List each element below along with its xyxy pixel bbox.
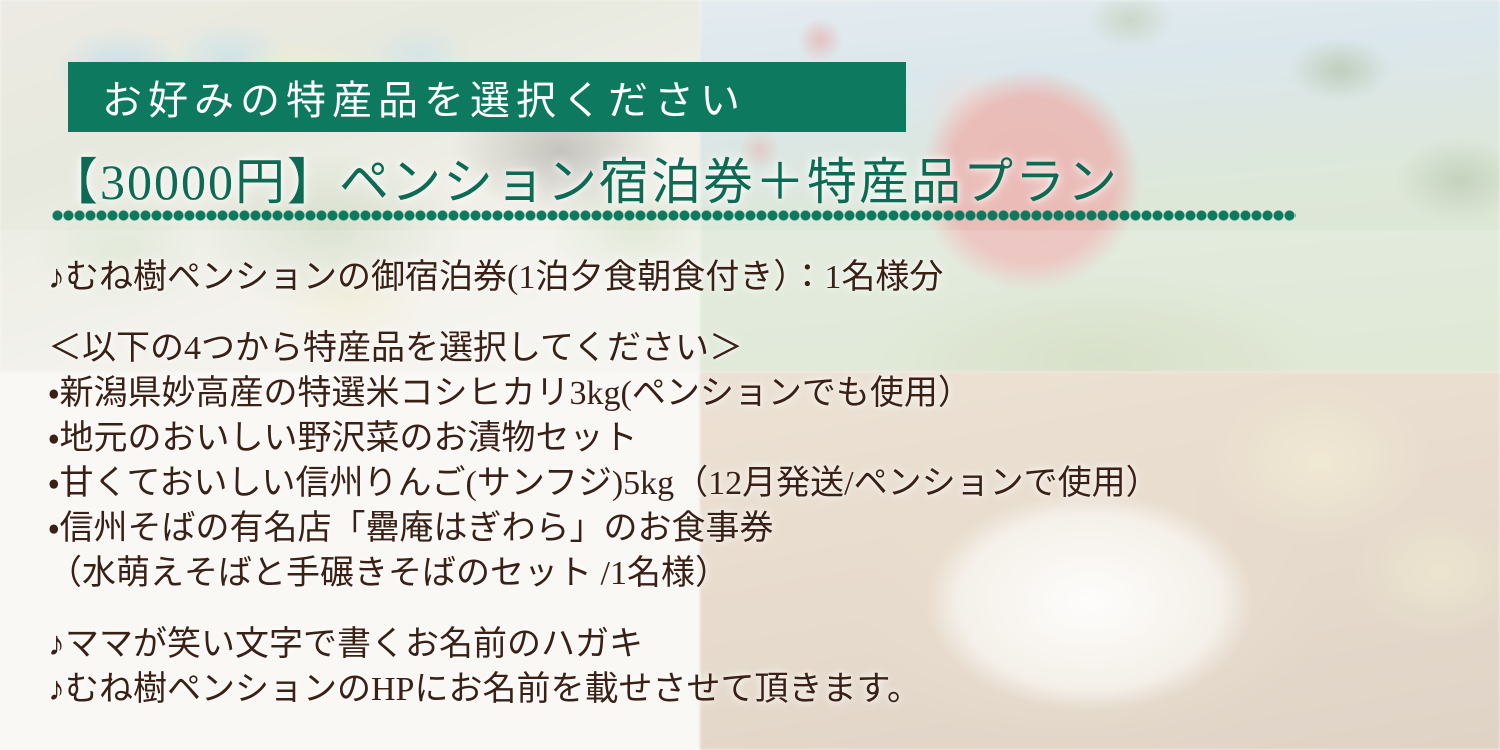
selection-banner: お好みの特産品を選択ください [68, 62, 906, 132]
choice-item-apples: ・甘くておいしい信州りんご(サンフジ)5kg（12月発送/ペンションで使用） [48, 461, 1470, 506]
poster-content: お好みの特産品を選択ください 【30000円】ペンション宿泊券＋特産品プラン ♪… [0, 0, 1500, 750]
extra-item-website-name: ♪むね樹ペンションのHPにお名前を載せさせて頂きます。 [48, 667, 1470, 712]
lodging-voucher-line: ♪むね樹ペンションの御宿泊券(1泊夕食朝食付き）：1名様分 [48, 255, 1470, 300]
dotted-divider [52, 209, 1296, 221]
spacer [48, 300, 1470, 326]
choose-heading: ＜以下の4つから特産品を選択してください＞ [48, 326, 1470, 371]
selection-banner-label: お好みの特産品を選択ください [68, 68, 746, 126]
choice-item-soba-note: （水萌えそばと手碾きそばのセット /1名様） [48, 551, 1470, 596]
choice-item-rice: ・新潟県妙高産の特選米コシヒカリ3kg(ペンションでも使用） [48, 371, 1470, 416]
extra-item-postcard: ♪ママが笑い文字で書くお名前のハガキ [48, 622, 1470, 667]
poster-body: ♪むね樹ペンションの御宿泊券(1泊夕食朝食付き）：1名様分 ＜以下の4つから特産… [48, 255, 1470, 712]
choice-item-soba: ・信州そばの有名店「罍庵はぎわら」のお食事券 [48, 506, 1470, 551]
spacer-2 [48, 596, 1470, 622]
page-title: 【30000円】ペンション宿泊券＋特産品プラン [48, 142, 1119, 214]
choice-item-pickles: ・地元のおいしい野沢菜のお漬物セット [48, 416, 1470, 461]
promotional-poster: お好みの特産品を選択ください 【30000円】ペンション宿泊券＋特産品プラン ♪… [0, 0, 1500, 750]
